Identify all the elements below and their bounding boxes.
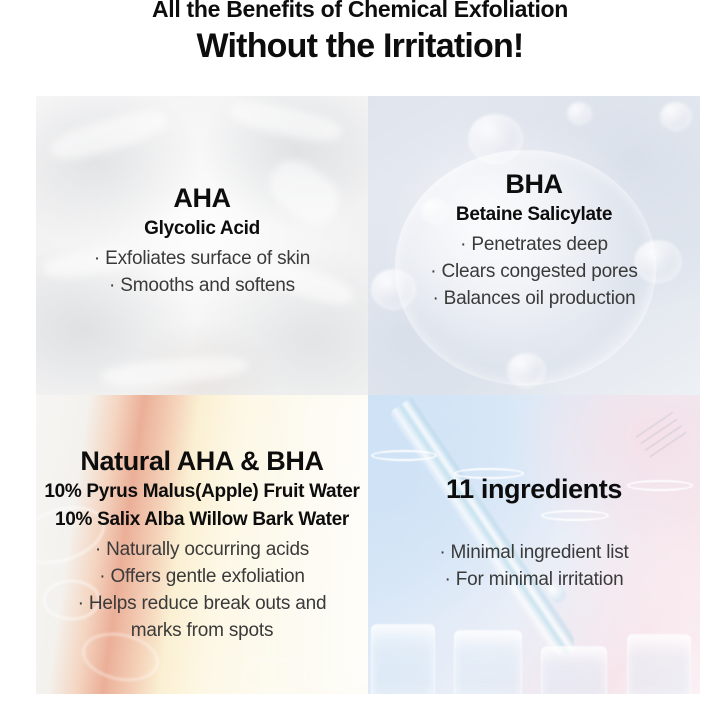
glass-vial-icon [454, 630, 522, 694]
bullet-item: · For minimal irritation [374, 566, 694, 593]
bullet-item: · Offers gentle exfoliation [42, 563, 362, 590]
bullet-item: · Naturally occurring acids [42, 536, 362, 563]
infographic-page: All the Benefits of Chemical Exfoliation… [0, 0, 720, 720]
bullet-item: marks from spots [42, 617, 362, 644]
benefit-card-aha-bullets: · Exfoliates surface of skin · Smooths a… [42, 245, 362, 299]
bubble-icon [507, 353, 546, 388]
benefit-card-bha-title: BHA [374, 168, 694, 200]
benefit-card-ingredients-title: 11 ingredients [374, 473, 694, 505]
headline-line-1: All the Benefits of Chemical Exfoliation [0, 0, 720, 22]
benefit-card-bha-content: BHA Betaine Salicylate · Penetrates deep… [368, 168, 700, 312]
gel-texture-streak-icon [227, 97, 343, 147]
bullet-item: · Balances oil production [374, 285, 694, 312]
bullet-item: · Exfoliates surface of skin [42, 245, 362, 272]
benefit-card-bha: BHA Betaine Salicylate · Penetrates deep… [368, 96, 700, 395]
benefit-card-natural-content: Natural AHA & BHA 10% Pyrus Malus(Apple)… [36, 445, 368, 644]
glass-vial-icon [541, 646, 607, 694]
benefit-card-natural: Natural AHA & BHA 10% Pyrus Malus(Apple)… [36, 395, 368, 694]
glass-vial-icon [371, 624, 435, 694]
bullet-item: · Penetrates deep [374, 231, 694, 258]
benefit-card-ingredients: 11 ingredients · Minimal ingredient list… [368, 395, 700, 694]
bubble-icon [660, 102, 692, 131]
benefit-card-natural-subtitle-2: 10% Salix Alba Willow Bark Water [42, 507, 362, 533]
benefit-card-natural-title: Natural AHA & BHA [42, 445, 362, 477]
benefit-card-bha-bullets: · Penetrates deep · Clears congested por… [374, 231, 694, 312]
headline-line-2: Without the Irritation! [0, 26, 720, 66]
water-splash-icon [242, 658, 306, 692]
benefit-card-aha: AHA Glycolic Acid · Exfoliates surface o… [36, 96, 368, 395]
benefit-card-aha-title: AHA [42, 182, 362, 214]
benefit-card-aha-content: AHA Glycolic Acid · Exfoliates surface o… [36, 182, 368, 299]
bubble-icon [468, 114, 523, 164]
benefit-card-ingredients-content: 11 ingredients · Minimal ingredient list… [368, 473, 700, 593]
glass-vial-icon [627, 634, 691, 694]
pipette-measurement-marks-icon [634, 410, 689, 463]
gel-texture-streak-icon [47, 104, 170, 166]
bullet-item: · Clears congested pores [374, 258, 694, 285]
gel-texture-streak-icon [102, 353, 250, 390]
bubble-icon [567, 102, 592, 125]
bullet-item: · Smooths and softens [42, 272, 362, 299]
benefits-grid: AHA Glycolic Acid · Exfoliates surface o… [36, 96, 700, 694]
bullet-item: · Helps reduce break outs and [42, 590, 362, 617]
benefit-card-bha-subtitle: Betaine Salicylate [374, 202, 694, 228]
page-headline: All the Benefits of Chemical Exfoliation… [0, 0, 720, 66]
bullet-item: · Minimal ingredient list [374, 539, 694, 566]
benefit-card-natural-bullets: · Naturally occurring acids · Offers gen… [42, 536, 362, 644]
benefit-card-natural-subtitle: 10% Pyrus Malus(Apple) Fruit Water [42, 479, 362, 505]
glass-vial-rim-icon [371, 450, 437, 461]
benefit-card-ingredients-bullets: · Minimal ingredient list · For minimal … [374, 539, 694, 593]
benefit-card-aha-subtitle: Glycolic Acid [42, 216, 362, 242]
